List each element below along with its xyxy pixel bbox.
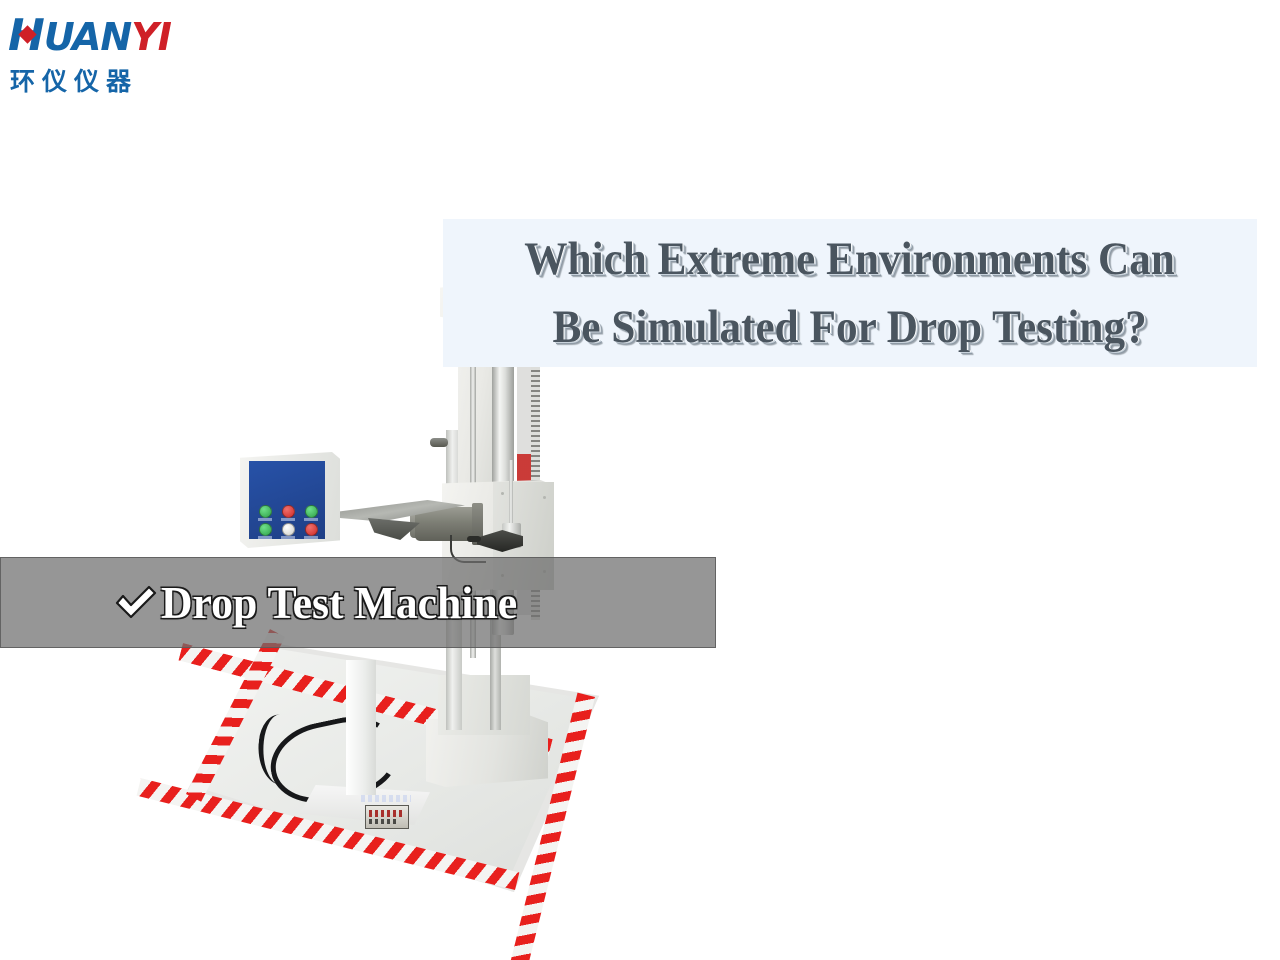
display-segment-row-2 [369, 819, 399, 824]
logo-letters-yi: YI [131, 15, 171, 59]
control-button-4[interactable] [259, 523, 272, 536]
control-button-3[interactable] [305, 505, 318, 518]
title-banner: Which Extreme Environments Can Be Simula… [443, 219, 1257, 367]
control-panel-title-strip [361, 795, 411, 802]
product-banner-label: Drop Test Machine [161, 576, 517, 629]
page-title: Which Extreme Environments Can Be Simula… [525, 225, 1176, 361]
logo-letters-uan: UAN [44, 15, 131, 59]
side-knob [430, 438, 448, 447]
clamp-knob [467, 536, 481, 542]
control-button-label-6 [304, 536, 318, 539]
control-panel[interactable] [249, 461, 325, 539]
check-icon [113, 583, 159, 623]
control-button-2[interactable] [282, 505, 295, 518]
pedestal-column [346, 660, 376, 795]
drop-rod [509, 460, 513, 526]
bolt-icon [501, 492, 504, 495]
control-button-label-3 [304, 518, 318, 521]
digital-display [365, 805, 409, 829]
control-button-1[interactable] [259, 505, 272, 518]
slide-canvas: HUANYI 环仪仪器 [0, 0, 1280, 960]
control-button-label-4 [258, 536, 272, 539]
control-button-label-5 [281, 536, 295, 539]
page-title-line-1: Which Extreme Environments Can [525, 233, 1176, 285]
logo-chinese-name: 环仪仪器 [10, 62, 138, 98]
control-button-6[interactable] [305, 523, 318, 536]
control-button-5[interactable] [282, 523, 295, 536]
product-banner: Drop Test Machine [0, 557, 716, 648]
logo-wordmark: HUANYI [8, 14, 158, 58]
page-title-line-2: Be Simulated For Drop Testing? [525, 293, 1176, 361]
bolt-icon [543, 496, 546, 499]
company-logo[interactable]: HUANYI 环仪仪器 [8, 14, 168, 100]
display-segment-row-1 [369, 810, 405, 817]
control-button-label-2 [281, 518, 295, 521]
product-banner-content: Drop Test Machine [113, 576, 536, 629]
control-button-label-1 [258, 518, 272, 521]
